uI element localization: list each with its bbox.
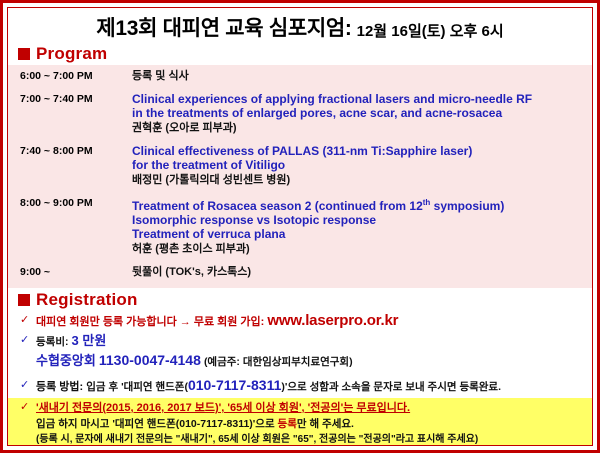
membership-note: 대피연 회원만 등록 가능합니다 → 무료 회원 가입: <box>36 316 264 328</box>
free-admission-highlight: ✓ '새내기 전문의(2015, 2016, 2017 보드)', '65세 이… <box>8 398 592 446</box>
program-time: 9:00 ~ <box>20 265 132 278</box>
instruction-part-a: 입금 하지 마시고 '대피연 핸드폰(010-7117-8311)'으로 <box>36 418 278 430</box>
free-admission-instruction-text: 입금 하지 마시고 '대피연 핸드폰(010-7117-8311)'으로 등록만… <box>36 417 354 432</box>
method-text-before: 입금 후 '대피연 핸드폰( <box>86 381 188 393</box>
free-admission-text: '새내기 전문의(2015, 2016, 2017 보드)', '65세 이상 … <box>36 400 410 416</box>
program-title-en-line: Clinical experiences of applying fractio… <box>132 92 592 106</box>
fee-label: 등록비: <box>36 336 68 348</box>
registration-details: ✓ 대피연 회원만 등록 가능합니다 → 무료 회원 가입: www.laser… <box>8 310 592 446</box>
registration-method-text: 등록 방법: 입금 후 '대피연 핸드폰(010-7117-8311)'으로 성… <box>36 378 501 395</box>
free-admission-note: (등록 시, 문자에 새내기 전문의는 "새내기", 65세 이상 회원은 "6… <box>8 433 592 446</box>
program-row: 8:00 ~ 9:00 PM Treatment of Rosacea seas… <box>8 196 592 257</box>
program-time: 7:40 ~ 8:00 PM <box>20 144 132 157</box>
program-title-en-line: for the treatment of Vitiligo <box>132 158 592 172</box>
program-title-en-line: Treatment of Rosacea season 2 (continued… <box>132 196 592 213</box>
method-label: 등록 방법: <box>36 381 83 393</box>
bank-name: 수협중앙회 <box>36 353 96 368</box>
check-mark-icon: ✓ <box>20 378 36 393</box>
registration-url[interactable]: www.laserpro.or.kr <box>267 312 398 329</box>
program-title-en-line: Isomorphic response vs Isotopic response <box>132 213 592 227</box>
section-title-program: Program <box>36 44 107 64</box>
program-time: 7:00 ~ 7:40 PM <box>20 92 132 105</box>
event-datetime: 12월 16일(토) 오후 6시 <box>357 20 504 41</box>
program-row: 9:00 ~ 뒷풀이 (TOK's, 카스톡스) <box>8 265 592 280</box>
bank-account-number: 1130-0047-4148 <box>99 352 201 368</box>
red-square-bullet-icon <box>18 294 30 306</box>
section-title-registration: Registration <box>36 290 138 310</box>
registration-method-line: ✓ 등록 방법: 입금 후 '대피연 핸드폰(010-7117-8311)'으로… <box>8 378 592 395</box>
page-title: 제13회 대피연 교육 심포지엄: <box>96 12 351 42</box>
program-schedule-list: 6:00 ~ 7:00 PM 등록 및 식사 7:00 ~ 7:40 PM Cl… <box>8 65 592 288</box>
registration-membership-line: ✓ 대피연 회원만 등록 가능합니다 → 무료 회원 가입: www.laser… <box>8 313 592 330</box>
free-admission-line: ✓ '새내기 전문의(2015, 2016, 2017 보드)', '65세 이… <box>8 400 592 416</box>
free-admission-note-text: (등록 시, 문자에 새내기 전문의는 "새내기", 65세 이상 회원은 "6… <box>36 433 478 446</box>
registration-fee-line: ✓ 등록비: 3 만원 <box>8 333 592 350</box>
program-title-en-line: Treatment of verruca plana <box>132 227 592 241</box>
program-row: 7:00 ~ 7:40 PM Clinical experiences of a… <box>8 92 592 136</box>
poster-title-row: 제13회 대피연 교육 심포지엄: 12월 16일(토) 오후 6시 <box>8 8 592 42</box>
program-details: Clinical effectiveness of PALLAS (311-nm… <box>132 144 592 188</box>
free-admission-instruction: 입금 하지 마시고 '대피연 핸드폰(010-7117-8311)'으로 등록만… <box>8 417 592 432</box>
fee-amount: 3 만원 <box>72 333 107 348</box>
program-speaker: 권혁훈 (오아로 피부과) <box>132 121 592 136</box>
registration-membership-text: 대피연 회원만 등록 가능합니다 → 무료 회원 가입: www.laserpr… <box>36 313 398 330</box>
program-speaker: 허훈 (평촌 초이스 피부과) <box>132 242 592 257</box>
program-row: 6:00 ~ 7:00 PM 등록 및 식사 <box>8 69 592 84</box>
registration-bank-text: 수협중앙회 1130-0047-4148 (예금주: 대한임상피부치료연구회) <box>36 353 353 370</box>
method-text-after: )'으로 성함과 소속을 문자로 보내 주시면 등록완료. <box>281 381 501 393</box>
poster-inner-frame: 제13회 대피연 교육 심포지엄: 12월 16일(토) 오후 6시 Progr… <box>7 7 593 446</box>
program-title-en-line: in the treatments of enlarged pores, acn… <box>132 106 592 120</box>
bank-account-holder: (예금주: 대한임상피부치료연구회) <box>204 356 353 368</box>
instruction-part-c: 만 해 주세요. <box>297 418 354 430</box>
program-details: Clinical experiences of applying fractio… <box>132 92 592 136</box>
check-mark-icon: ✓ <box>20 333 36 348</box>
section-heading-registration: Registration <box>8 290 592 310</box>
program-title-en-text: Treatment of Rosacea season 2 (continued… <box>132 199 504 213</box>
check-mark-icon: ✓ <box>20 313 36 328</box>
registration-bank-line: 수협중앙회 1130-0047-4148 (예금주: 대한임상피부치료연구회) <box>8 353 592 370</box>
program-details: 뒷풀이 (TOK's, 카스톡스) <box>132 265 592 280</box>
program-title-en-line: Clinical effectiveness of PALLAS (311-nm… <box>132 144 592 158</box>
program-row: 7:40 ~ 8:00 PM Clinical effectiveness of… <box>8 144 592 188</box>
check-mark-icon: ✓ <box>20 400 36 415</box>
registration-fee-text: 등록비: 3 만원 <box>36 333 106 350</box>
program-time: 8:00 ~ 9:00 PM <box>20 196 132 209</box>
contact-phone-number: 010-7117-8311 <box>188 377 281 393</box>
red-square-bullet-icon <box>18 48 30 60</box>
program-title-ko: 등록 및 식사 <box>132 69 592 84</box>
program-title-ko: 뒷풀이 (TOK's, 카스톡스) <box>132 265 592 280</box>
program-time: 6:00 ~ 7:00 PM <box>20 69 132 82</box>
program-details: 등록 및 식사 <box>132 69 592 84</box>
program-details: Treatment of Rosacea season 2 (continued… <box>132 196 592 257</box>
section-heading-program: Program <box>8 44 592 64</box>
symposium-poster: 제13회 대피연 교육 심포지엄: 12월 16일(토) 오후 6시 Progr… <box>0 0 600 453</box>
instruction-keyword: 등록 <box>278 418 297 430</box>
program-speaker: 배정민 (가톨릭의대 성빈센트 병원) <box>132 173 592 188</box>
